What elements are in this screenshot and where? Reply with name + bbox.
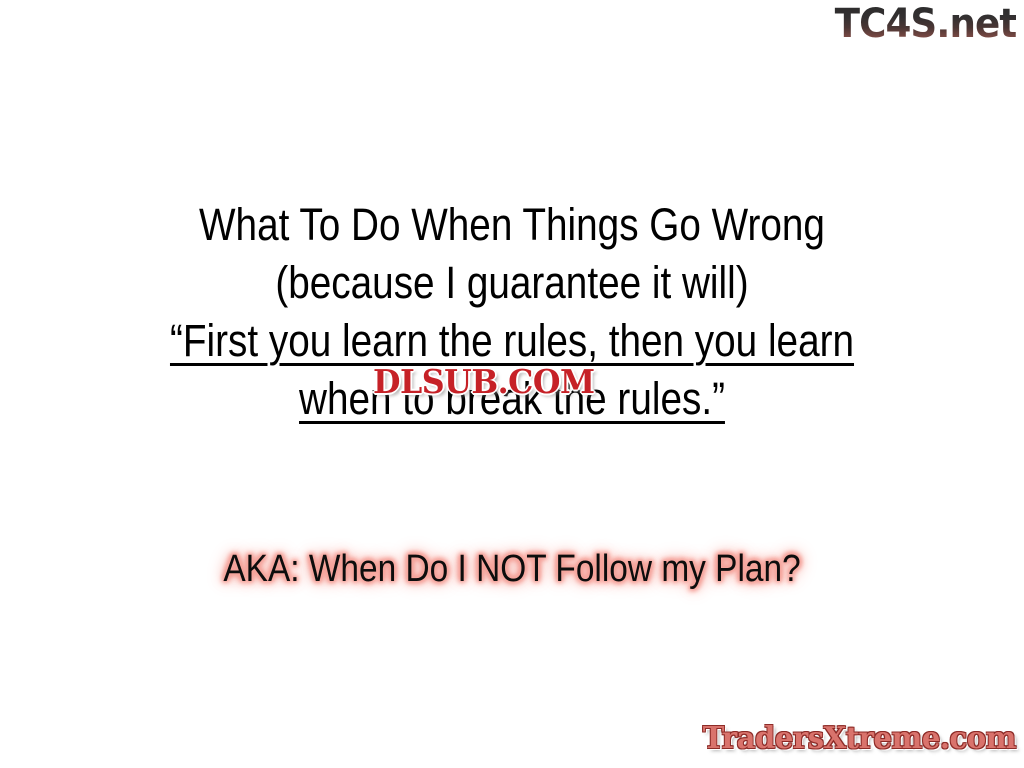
body-line-1: What To Do When Things Go Wrong <box>72 196 953 254</box>
body-line-2: (because I guarantee it will) <box>72 254 953 312</box>
aka-subtitle: AKA: When Do I NOT Follow my Plan? <box>223 546 800 592</box>
subtitle-row: AKA: When Do I NOT Follow my Plan? <box>0 546 1024 592</box>
presentation-slide: TC4S.net What To Do When Things Go Wrong… <box>0 0 1024 768</box>
tc4s-logo: TC4S.net <box>834 2 1016 46</box>
tradersxtreme-logo: TradersXtreme.com <box>703 722 1016 756</box>
dlsub-watermark: DLSUB.COM <box>373 364 595 400</box>
